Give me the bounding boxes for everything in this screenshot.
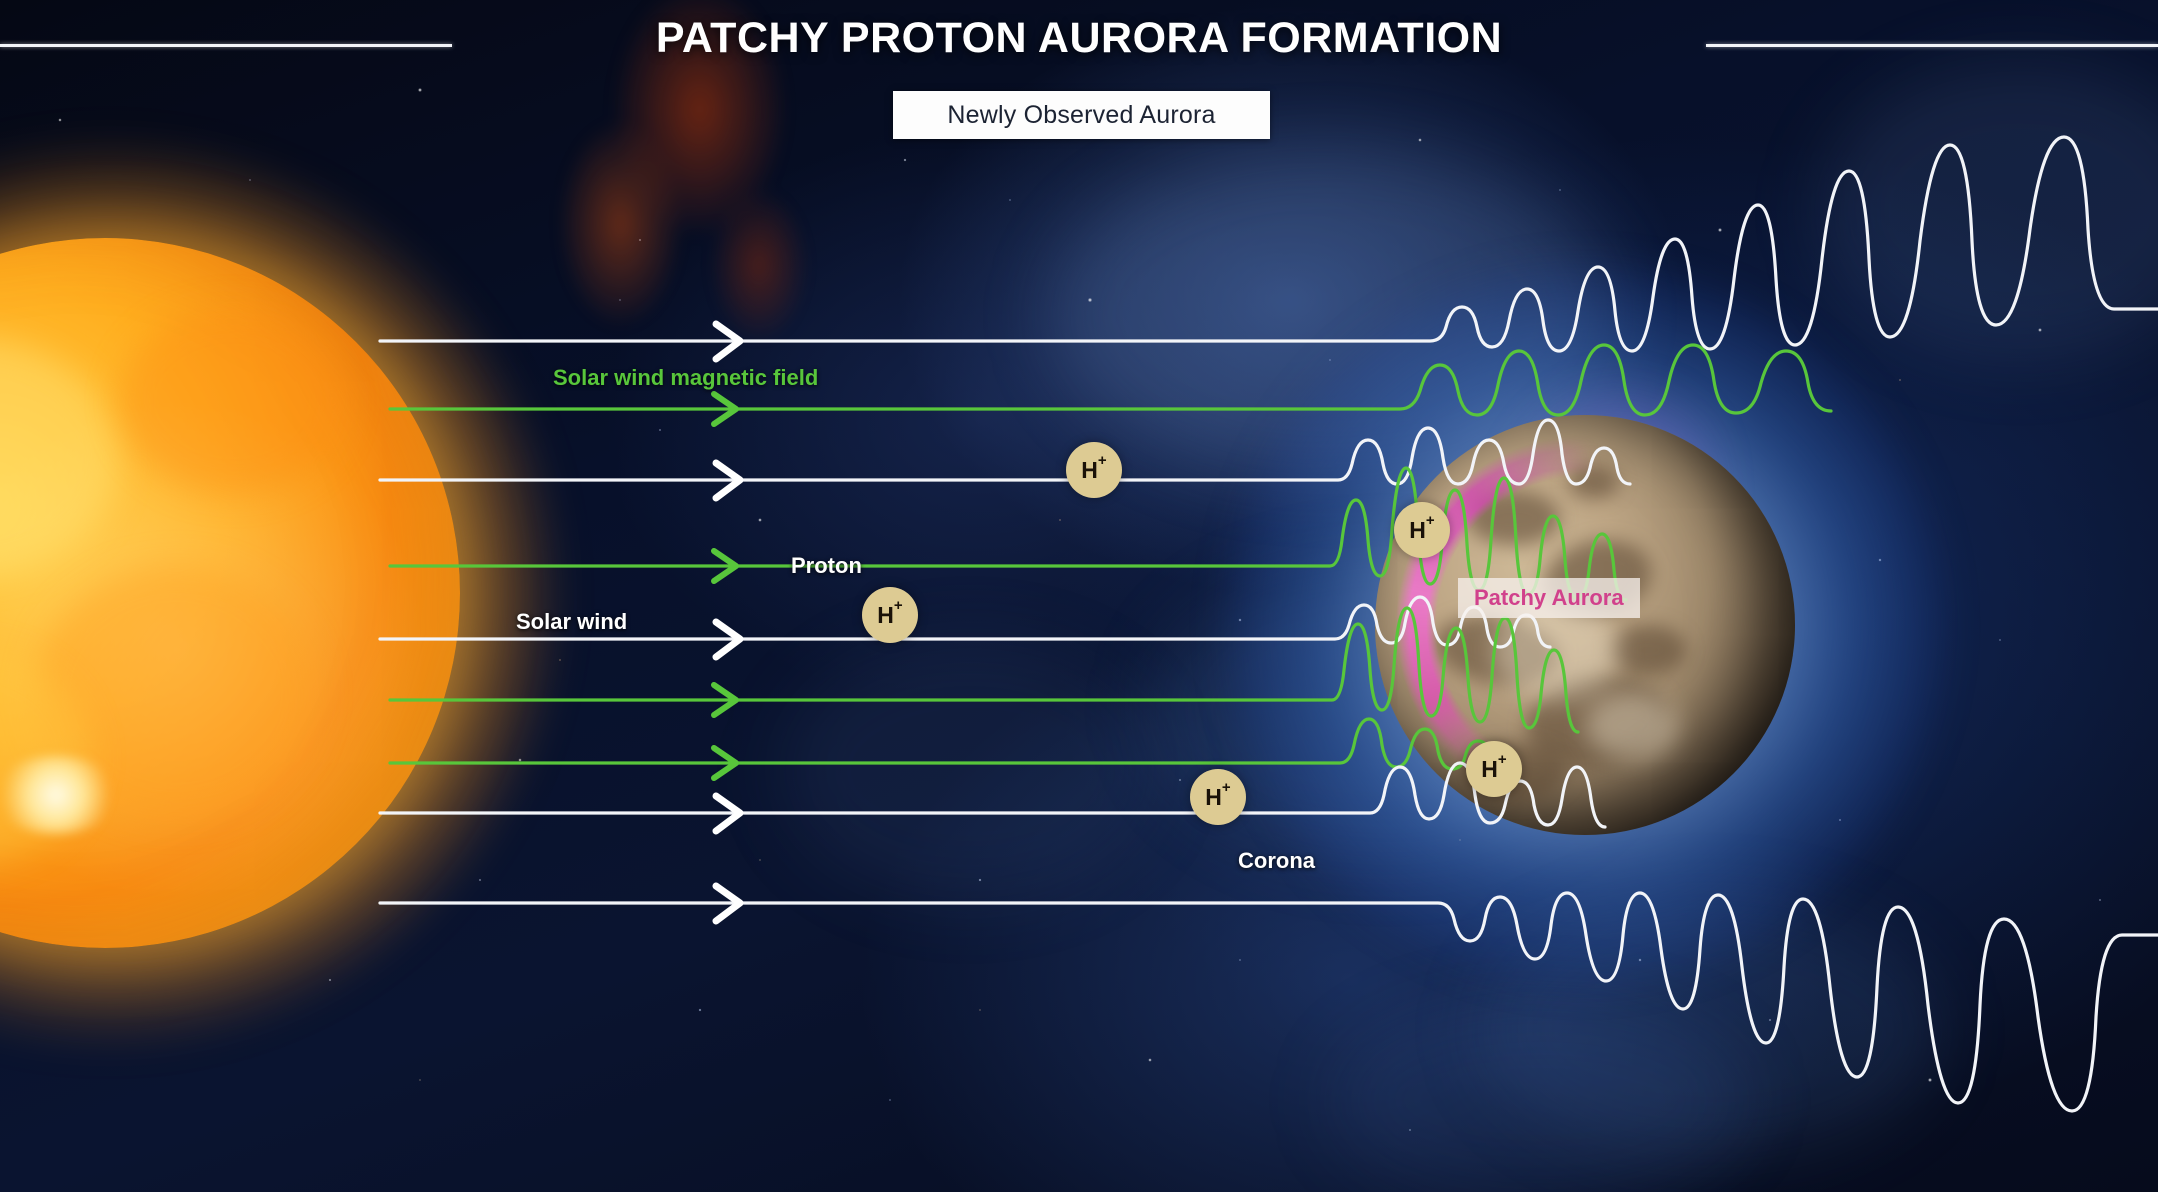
- infographic-canvas: .sw { fill:none; stroke:#f2f4f8; stroke-…: [0, 0, 2158, 1192]
- proton-charge-sign: +: [894, 597, 903, 614]
- proton-symbol: H+: [1481, 756, 1506, 783]
- stream-line-0: [380, 137, 2158, 351]
- page-title: PATCHY PROTON AURORA FORMATION: [0, 14, 2158, 63]
- solar-wind-flow-field: .sw { fill:none; stroke:#f2f4f8; stroke-…: [0, 0, 2158, 1192]
- proton-token: H+: [1394, 502, 1450, 558]
- proton-symbol: H+: [877, 602, 902, 629]
- proton-token: H+: [862, 587, 918, 643]
- label-solar-wind-magnetic-field: Solar wind magnetic field: [553, 365, 818, 391]
- subtitle-text: Newly Observed Aurora: [947, 101, 1215, 130]
- label-proton: Proton: [791, 553, 862, 579]
- proton-token: H+: [1190, 769, 1246, 825]
- proton-token: H+: [1466, 741, 1522, 797]
- stream-line-8: [380, 893, 2158, 1111]
- label-corona: Corona: [1238, 848, 1315, 874]
- label-solar-wind: Solar wind: [516, 609, 627, 635]
- proton-charge-sign: +: [1098, 452, 1107, 469]
- proton-symbol: H+: [1081, 457, 1106, 484]
- proton-charge-sign: +: [1498, 751, 1507, 768]
- stream-line-6: [390, 719, 1502, 769]
- proton-symbol: H+: [1409, 517, 1434, 544]
- proton-charge-sign: +: [1426, 512, 1435, 529]
- subtitle-badge: Newly Observed Aurora: [893, 91, 1270, 139]
- label-patchy-aurora: Patchy Aurora: [1458, 578, 1640, 618]
- stream-line-7: [380, 763, 1605, 827]
- proton-symbol: H+: [1205, 784, 1230, 811]
- proton-token: H+: [1066, 442, 1122, 498]
- stream-line-2: [380, 420, 1630, 484]
- proton-charge-sign: +: [1222, 779, 1231, 796]
